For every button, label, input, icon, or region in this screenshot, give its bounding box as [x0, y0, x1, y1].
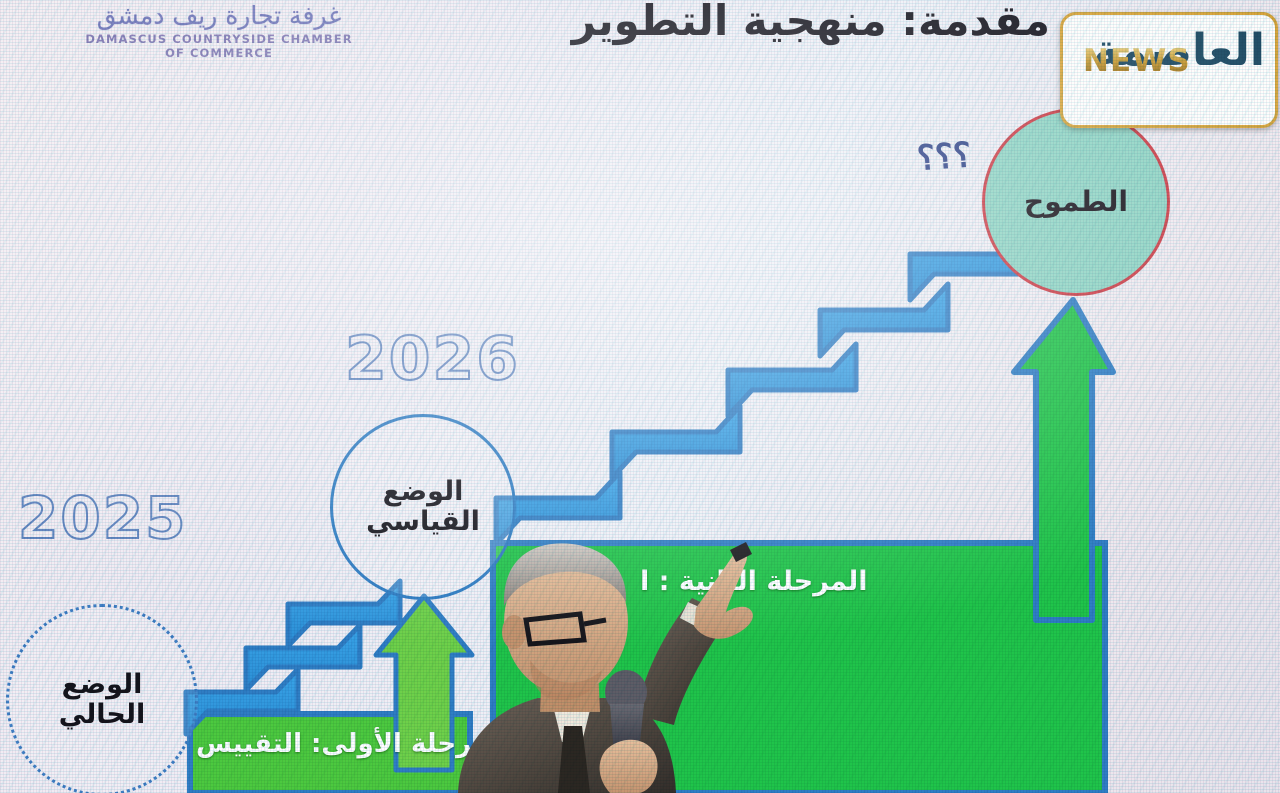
news-logo-word: NEWS: [1083, 43, 1191, 79]
bubble-current-status-text: الوضع الحالي: [59, 670, 145, 730]
slide-title: مقدمة: منهجية التطوير: [572, 0, 1050, 45]
chamber-logo: غرفة تجارة ريف دمشق DAMASCUS COUNTRYSIDE…: [84, 2, 354, 60]
bubble-current-status: الوضع الحالي: [6, 604, 198, 793]
year-label-2026: 2026: [345, 324, 520, 394]
year-label-2025: 2025: [18, 484, 187, 552]
speaker-person: [430, 520, 850, 793]
chamber-logo-english-line2: OF COMMERCE: [84, 46, 354, 60]
chamber-logo-english-line1: DAMASCUS COUNTRYSIDE CHAMBER: [84, 32, 354, 46]
bubble-ambition-text: الطموح: [1024, 186, 1128, 217]
bubble-ambition: الطموح: [982, 108, 1170, 296]
chamber-logo-arabic: غرفة تجارة ريف دمشق: [84, 2, 354, 30]
news-channel-logo: العاصمة NEWS: [1060, 12, 1278, 128]
question-marks-icon: ؟؟؟: [916, 135, 973, 179]
speaker-ear: [502, 615, 526, 649]
speaker-hand: [694, 550, 753, 639]
slide-photo: غرفة تجارة ريف دمشق DAMASCUS COUNTRYSIDE…: [0, 0, 1280, 793]
